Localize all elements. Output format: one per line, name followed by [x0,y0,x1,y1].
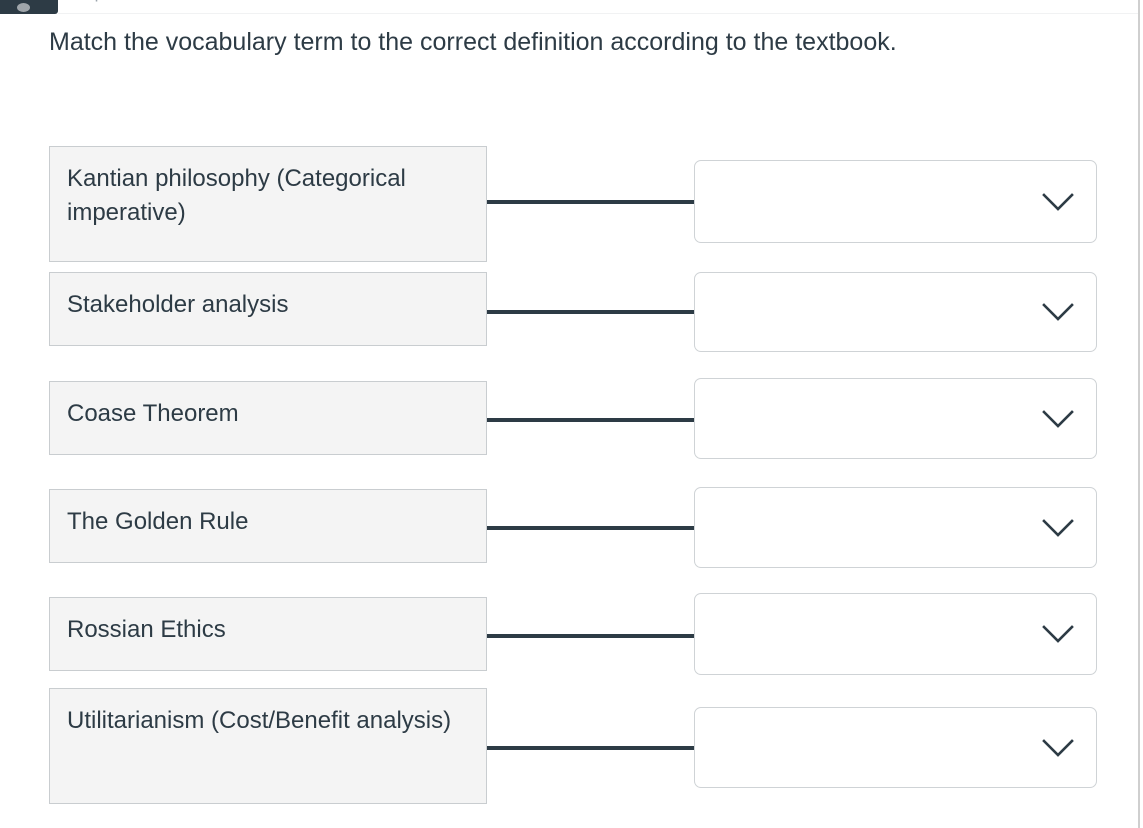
match-answer-dropdown[interactable] [694,378,1097,459]
match-connector-line [487,200,695,204]
match-term-box: The Golden Rule [49,489,487,563]
question-status-dot [17,3,30,12]
question-prompt: Match the vocabulary term to the correct… [49,24,1039,60]
match-term-box: Coase Theorem [49,381,487,455]
match-connector-line [487,526,695,530]
match-connector-line [487,418,695,422]
chevron-down-icon [1042,738,1074,758]
header-divider [58,13,1138,14]
question-points-label: 2 points [80,0,141,3]
chevron-down-icon [1042,302,1074,322]
match-answer-dropdown[interactable] [694,707,1097,788]
match-connector-line [487,310,695,314]
match-connector-line [487,746,695,750]
question-status-icon [0,0,58,14]
match-term-box: Stakeholder analysis [49,272,487,346]
chevron-down-icon [1042,409,1074,429]
vertical-scrollbar[interactable] [1138,0,1140,828]
question-header-strip: 2 points ⚑ [0,0,1143,15]
chevron-down-icon [1042,192,1074,212]
chevron-down-icon [1042,518,1074,538]
match-term-box: Utilitarianism (Cost/Benefit analysis) [49,688,487,804]
match-answer-dropdown[interactable] [694,272,1097,352]
match-answer-dropdown[interactable] [694,593,1097,675]
match-term-box: Kantian philosophy (Categorical imperati… [49,146,487,262]
chevron-down-icon [1042,624,1074,644]
bookmark-flag-icon[interactable]: ⚑ [1084,0,1098,4]
match-answer-dropdown[interactable] [694,160,1097,243]
match-answer-dropdown[interactable] [694,487,1097,568]
match-connector-line [487,634,695,638]
match-term-box: Rossian Ethics [49,597,487,671]
